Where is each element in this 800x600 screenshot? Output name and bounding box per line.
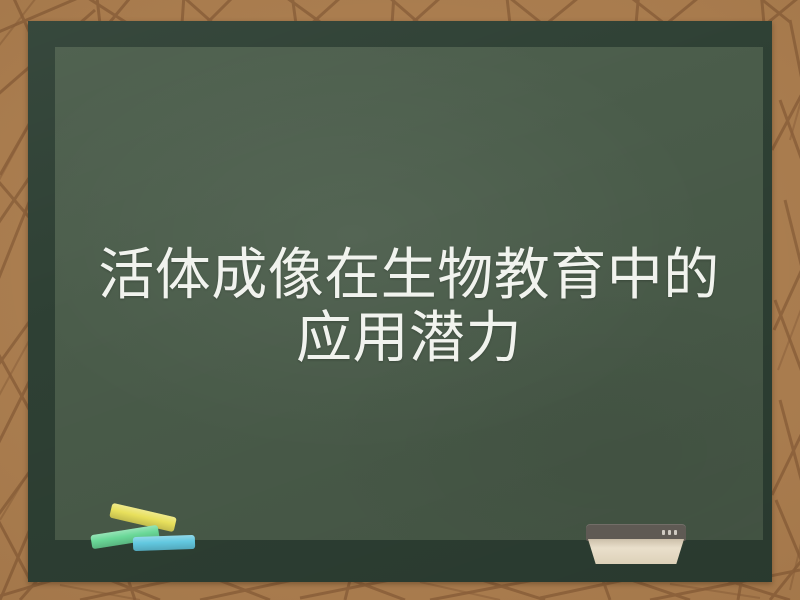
eraser-body (586, 524, 686, 541)
chalkboard-eraser[interactable] (586, 524, 686, 564)
slide-canvas: 活体成像在生物教育中的应用潜力 (0, 0, 800, 600)
eraser-dot (668, 530, 671, 535)
slide-title: 活体成像在生物教育中的应用潜力 (73, 245, 745, 370)
eraser-dot (662, 530, 665, 535)
eraser-dot (674, 530, 677, 535)
title-container: 活体成像在生物教育中的应用潜力 (55, 245, 763, 370)
chalkboard-frame: 活体成像在生物教育中的应用潜力 (28, 21, 772, 582)
chalk-group (88, 506, 208, 562)
eraser-felt-shadow (588, 539, 684, 548)
eraser-dots (662, 530, 677, 535)
cyan-chalk[interactable] (133, 535, 195, 551)
chalkboard-surface: 活体成像在生物教育中的应用潜力 (55, 47, 763, 540)
